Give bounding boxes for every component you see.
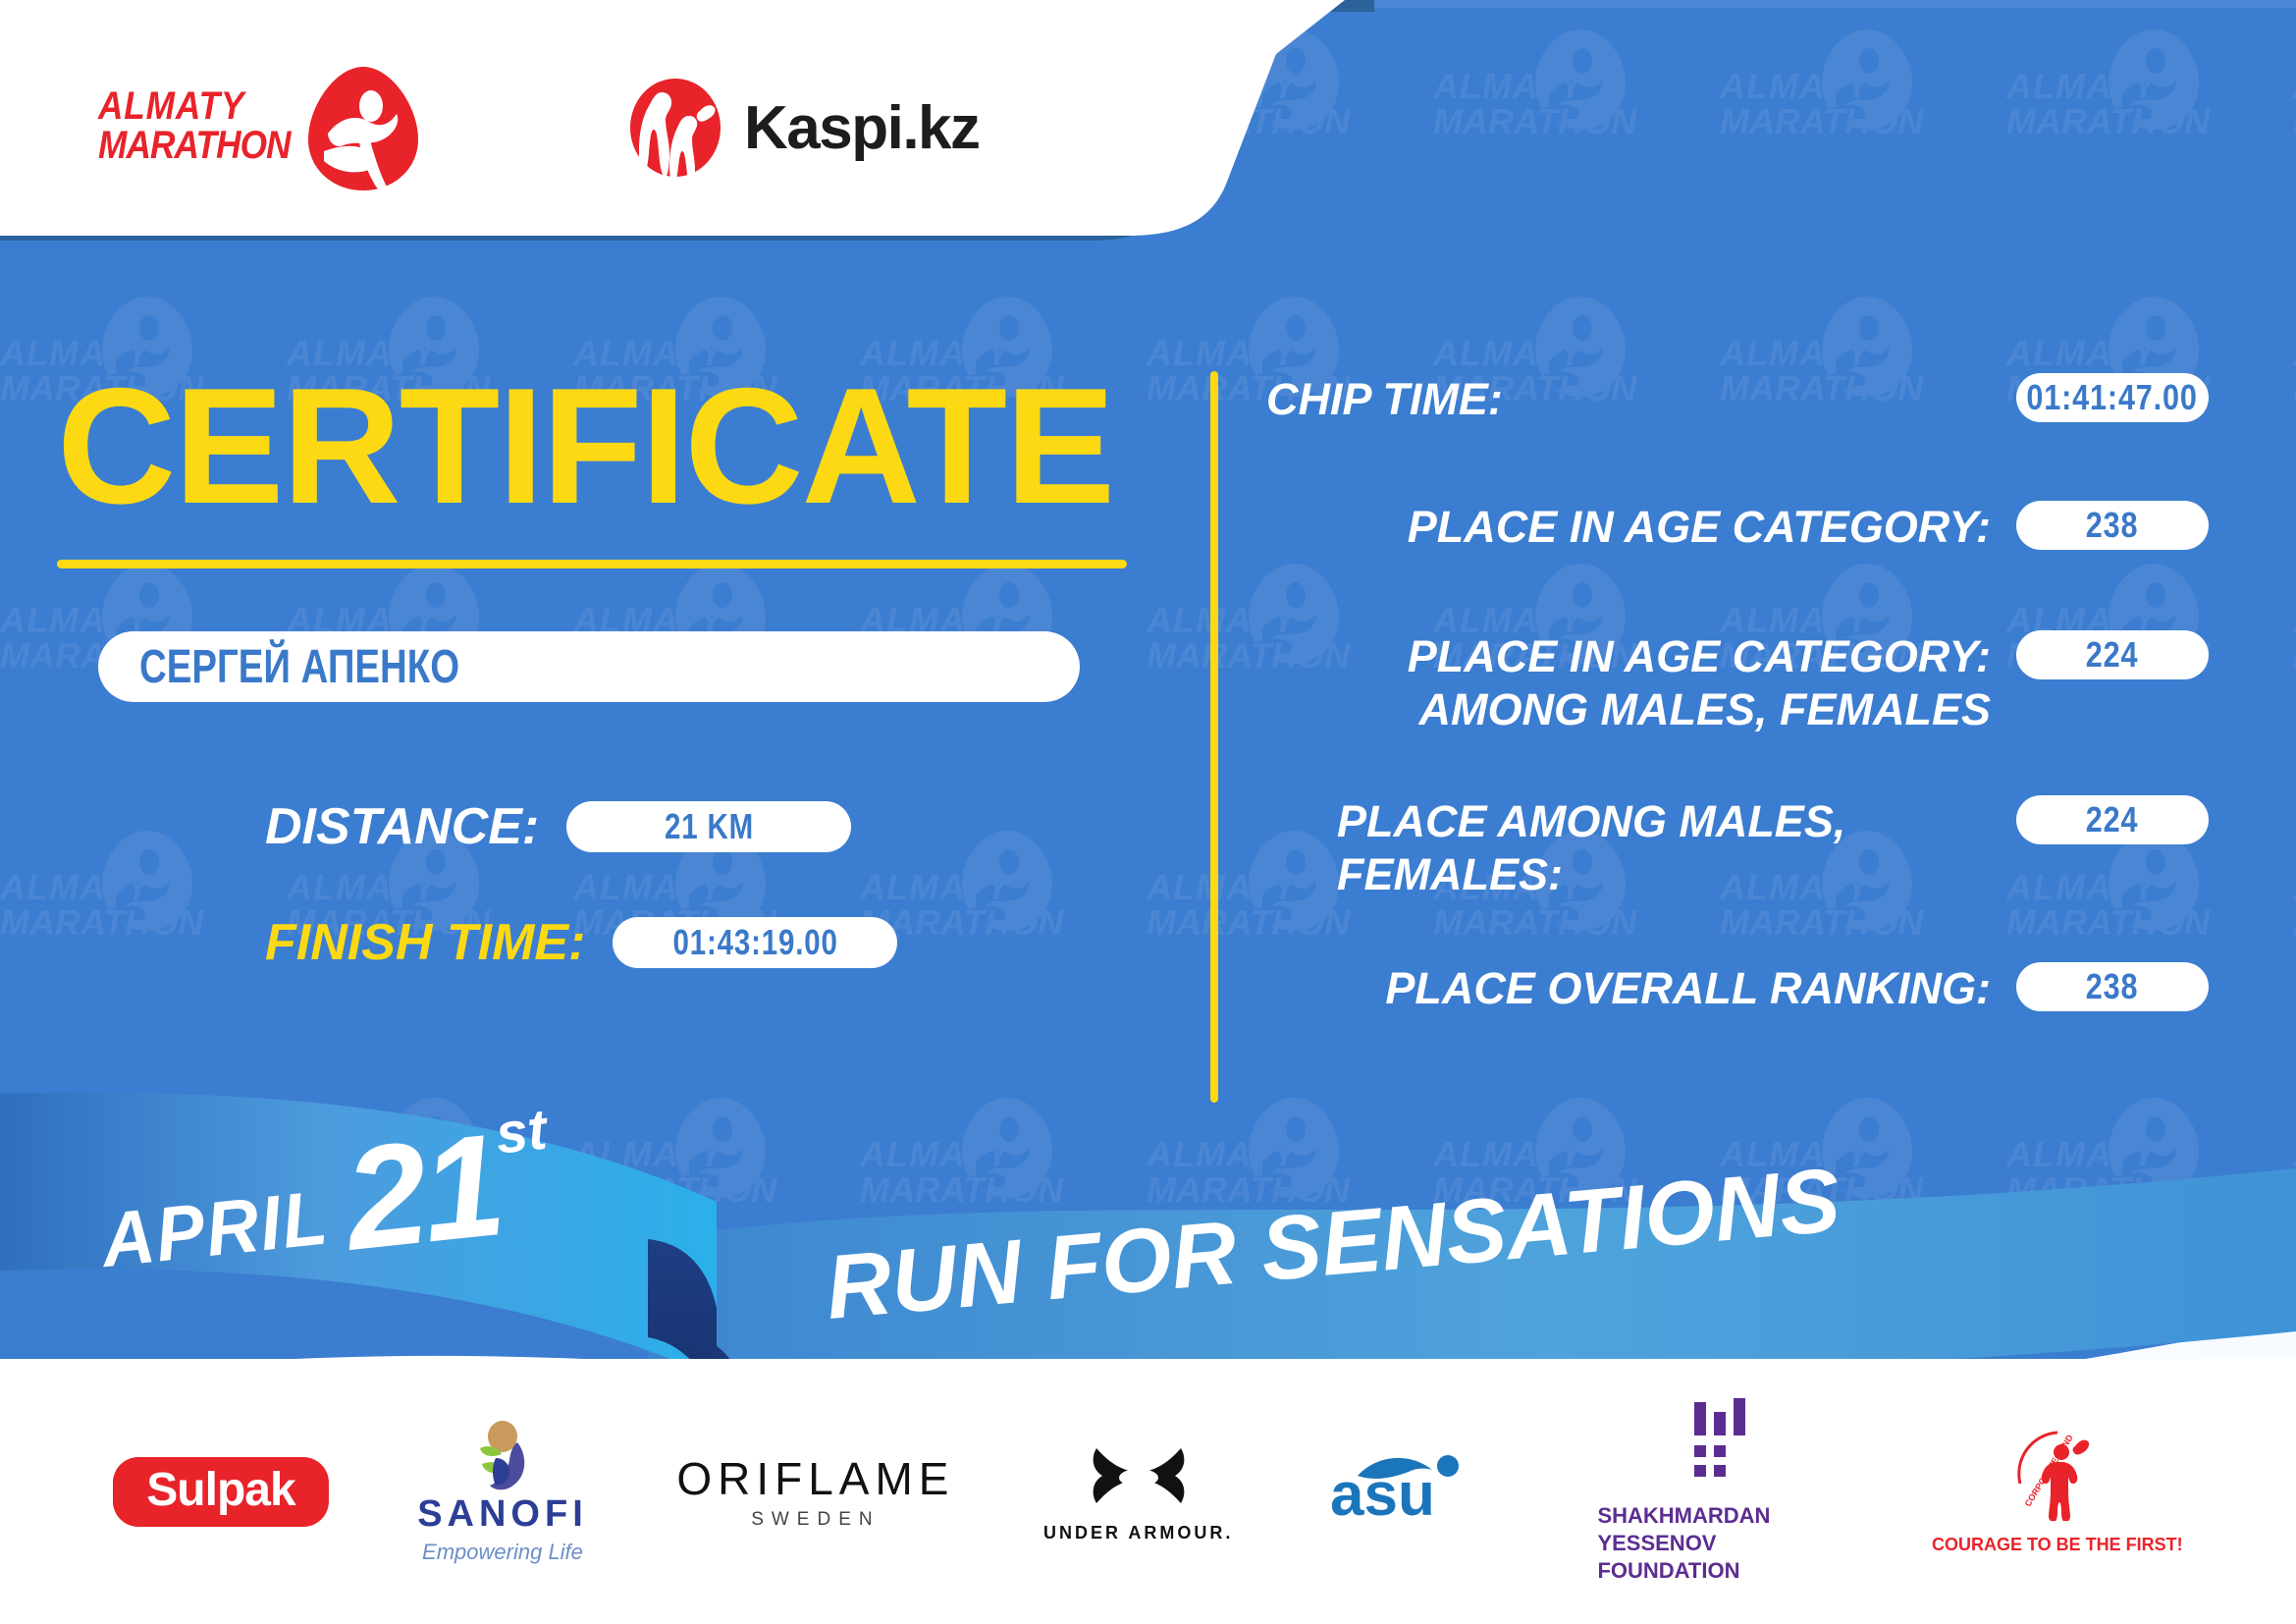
almaty-marathon-logo[interactable]: ALMATY MARATHON: [98, 65, 412, 192]
place-in-age-category-label: PLACE IN AGE CATEGORY:: [1266, 501, 1991, 554]
stat-row-place-in-age-category-among: PLACE IN AGE CATEGORY: AMONG MALES, FEMA…: [1266, 630, 2209, 736]
stat-row-place-overall-ranking: PLACE OVERALL RANKING: 238: [1266, 962, 2209, 1015]
chip-time-value-pill[interactable]: 01:41:47.00: [2016, 373, 2209, 422]
place-in-age-category-among-value: 224: [2086, 634, 2139, 676]
sanofi-mark-icon: [466, 1419, 539, 1493]
almaty-marathon-line1: ALMATY: [98, 86, 284, 126]
oriflame-wordmark: ORIFLAME: [676, 1452, 954, 1505]
sponsor-bar: Sulpak SANOFI Empowering Life ORIFLAME S…: [0, 1359, 2296, 1624]
kaspi-wordmark: Kaspi.kz: [744, 93, 980, 163]
place-overall-ranking-value: 238: [2086, 966, 2139, 1007]
oriflame-tagline: SWEDEN: [751, 1509, 880, 1531]
distance-row: DISTANCE: 21 KM: [265, 797, 851, 856]
courage-figure-icon: CORPORATE FUND: [2010, 1427, 2105, 1521]
chip-time-value: 01:41:47.00: [2027, 377, 2198, 418]
courage-wordmark: COURAGE TO BE THE FIRST!: [1932, 1533, 2183, 1556]
finish-time-label: FINISH TIME:: [265, 913, 585, 972]
kaspi-logo[interactable]: Kaspi.kz: [628, 77, 980, 179]
stat-row-place-among-males-females: PLACE AMONG MALES, FEMALES: 224: [1266, 795, 2209, 901]
page-title: CERTIFICATE: [57, 363, 1113, 528]
sanofi-wordmark: SANOFI: [417, 1493, 588, 1536]
chip-time-label: CHIP TIME:: [1266, 373, 1991, 426]
event-day: 21: [341, 1126, 506, 1260]
sponsor-under-armour[interactable]: UNDER ARMOUR.: [1043, 1440, 1233, 1543]
place-in-age-category-value: 238: [2086, 505, 2139, 546]
sponsor-asu[interactable]: asu: [1322, 1450, 1509, 1533]
finish-time-row: FINISH TIME: 01:43:19.00: [265, 913, 897, 972]
athlete-name-field[interactable]: СЕРГЕЙ АПЕНКО: [98, 631, 1080, 702]
place-in-age-category-among-value-pill[interactable]: 224: [2016, 630, 2209, 679]
place-in-age-category-among-label: PLACE IN AGE CATEGORY: AMONG MALES, FEMA…: [1266, 630, 1991, 736]
sponsor-corporate-fund[interactable]: CORPORATE FUND COURAGE TO BE THE FIRST!: [1932, 1427, 2183, 1556]
distance-value-pill[interactable]: 21 KM: [566, 801, 851, 852]
almaty-marathon-wordmark: ALMATY MARATHON: [98, 86, 284, 165]
athlete-name-value: СЕРГЕЙ АПЕНКО: [139, 640, 459, 694]
place-in-age-category-value-pill[interactable]: 238: [2016, 501, 2209, 550]
place-among-males-females-label: PLACE AMONG MALES, FEMALES:: [1266, 795, 1991, 901]
distance-value: 21 KM: [665, 806, 754, 847]
header-logo-group: ALMATY MARATHON Kaspi.kz: [0, 47, 1227, 204]
asu-swirl-icon: asu: [1322, 1450, 1509, 1533]
sulpak-logo-text: Sulpak: [113, 1457, 328, 1527]
event-day-suffix: st: [493, 1097, 550, 1167]
place-overall-ranking-label: PLACE OVERALL RANKING:: [1266, 962, 1991, 1015]
sponsor-sanofi[interactable]: SANOFI Empowering Life: [417, 1419, 588, 1565]
almaty-marathon-line2: MARATHON: [98, 126, 284, 165]
stat-row-chip-time: CHIP TIME: 01:41:47.00: [1266, 373, 2209, 426]
runner-drop-icon: [306, 65, 420, 192]
title-underline-rule: [57, 560, 1127, 568]
place-overall-ranking-value-pill[interactable]: 238: [2016, 962, 2209, 1011]
distance-label: DISTANCE:: [265, 797, 539, 856]
finish-time-value-pill[interactable]: 01:43:19.00: [613, 917, 897, 968]
place-among-males-females-value: 224: [2086, 799, 2139, 840]
under-armour-wordmark: UNDER ARMOUR.: [1043, 1523, 1233, 1543]
yessenov-foundation-wordmark: SHAKHMARDAN YESSENOV FOUNDATION: [1597, 1502, 1842, 1585]
kaspi-people-icon: [628, 77, 722, 179]
vertical-divider: [1210, 371, 1218, 1103]
sponsor-sulpak[interactable]: Sulpak: [113, 1457, 328, 1527]
stat-row-place-in-age-category: PLACE IN AGE CATEGORY: 238: [1266, 501, 2209, 554]
certificate-page: ALMATY MARATHON ALMATY MARATHON: [0, 0, 2296, 1624]
under-armour-icon: [1075, 1440, 1202, 1515]
finish-time-value: 01:43:19.00: [672, 922, 837, 963]
place-among-males-females-value-pill[interactable]: 224: [2016, 795, 2209, 844]
sponsor-yessenov-foundation[interactable]: SHAKHMARDAN YESSENOV FOUNDATION: [1597, 1398, 1842, 1585]
sanofi-tagline: Empowering Life: [422, 1540, 583, 1565]
yessenov-bars-icon: [1688, 1398, 1751, 1485]
sponsor-oriflame[interactable]: ORIFLAME SWEDEN: [676, 1452, 954, 1531]
